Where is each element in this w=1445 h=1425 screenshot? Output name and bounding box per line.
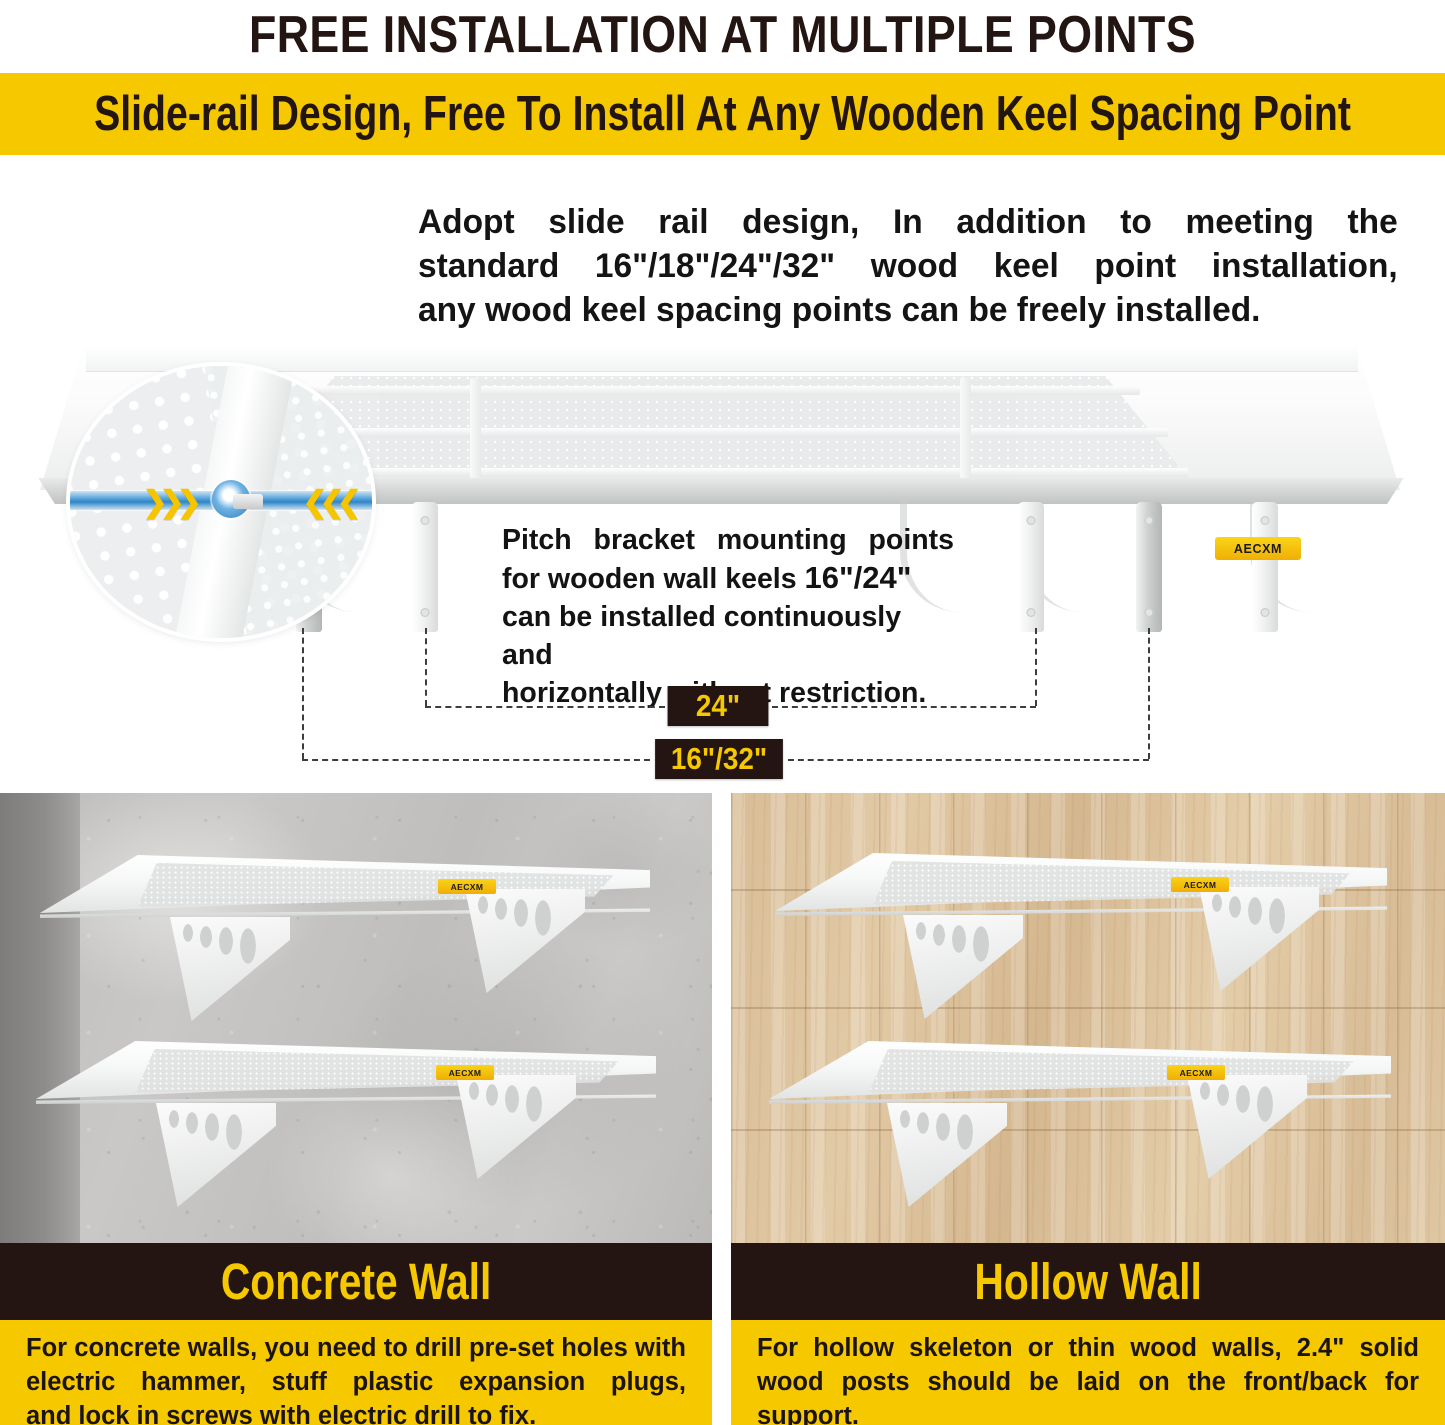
wood-plank-seam-2	[731, 1007, 1445, 1009]
mounting-bracket-6	[1252, 502, 1278, 632]
concrete-shelf-lower: AECXM	[36, 1041, 656, 1191]
dimension-label-16-32in: 16"/32"	[655, 739, 783, 779]
brand-badge-shelf-upper: AECXM	[438, 879, 496, 894]
deck-divider-left	[470, 378, 481, 478]
dim-inner-leader-right	[1035, 628, 1037, 706]
brand-badge-shelf-lower: AECXM	[436, 1065, 494, 1080]
caption-title-text: Concrete Wall	[221, 1252, 492, 1311]
caption-paragraph: For hollow skeleton or thin wood walls, …	[757, 1331, 1419, 1425]
caption-last-line: and lock in screws with electric drill t…	[26, 1402, 536, 1425]
photo-concrete-wall: AECXM AECXM	[0, 793, 712, 1243]
caption-title-hollow: Hollow Wall	[731, 1243, 1445, 1320]
caption-body-concrete: For concrete walls, you need to drill pr…	[0, 1320, 712, 1425]
deck-divider-right	[960, 378, 971, 478]
slide-rail-detail-magnifier: ❯❯❯ ❮❮❮	[70, 366, 372, 638]
brand-badge-shelf-upper: AECXM	[1171, 877, 1229, 892]
pitch-line-2: for wooden wall keels 16"/24"	[502, 559, 954, 598]
pitch-bracket-note: Pitch bracket mounting points for wooden…	[502, 521, 954, 712]
bracket-cutouts	[456, 1075, 576, 1179]
shelf-bracket-right	[465, 889, 585, 993]
page-title: FREE INSTALLATION AT MULTIPLE POINTS	[101, 0, 1344, 72]
dim-inner-line-left	[425, 706, 665, 708]
header-banner-text: Slide-rail Design, Free To Install At An…	[145, 73, 1301, 155]
caption-title-concrete: Concrete Wall	[0, 1243, 712, 1320]
dimension-label-24in: 24"	[668, 686, 769, 726]
infographic-page: FREE INSTALLATION AT MULTIPLE POINTS Sli…	[0, 0, 1445, 1425]
hollow-shelf-lower: AECXM	[769, 1041, 1391, 1191]
caption-title-text: Hollow Wall	[974, 1252, 1201, 1311]
bracket-cutouts	[1199, 887, 1319, 991]
concrete-shelf-upper: AECXM	[40, 855, 650, 1005]
pitch-line-3: can be installed continuously and	[502, 598, 954, 674]
dim-outer-leader-left	[302, 628, 304, 759]
slide-right-arrow-icon: ❯❯❯	[142, 488, 193, 518]
pitch-line-1: Pitch bracket mounting points	[502, 521, 954, 559]
detail-bolt	[233, 494, 263, 509]
dim-outer-line-right	[788, 759, 1149, 761]
pitch-keel-sizes: 16"/24"	[805, 560, 912, 595]
bracket-cutouts	[465, 889, 585, 993]
mounting-bracket-3	[412, 502, 438, 632]
shelf-bracket-right	[1199, 887, 1319, 991]
panel-concrete-wall: AECXM AECXM Concrete Wall For concrete w…	[0, 793, 712, 1425]
pitch-line-2-text: for wooden wall keels	[502, 563, 805, 595]
caption-justified-text: For hollow skeleton or thin wood walls, …	[757, 1331, 1419, 1399]
caption-body-hollow: For hollow skeleton or thin wood walls, …	[731, 1320, 1445, 1425]
panel-hollow-wall: AECXM AECXM Hollow Wall For hollow skele…	[731, 793, 1445, 1425]
deck-rail-mid	[272, 428, 1168, 437]
mounting-bracket-5	[1136, 502, 1162, 632]
shelf-bracket-right	[1187, 1075, 1307, 1179]
dim-outer-line-left	[302, 759, 650, 761]
photo-hollow-wall: AECXM AECXM	[731, 793, 1445, 1243]
brand-badge-shelf-lower: AECXM	[1167, 1065, 1225, 1080]
mounting-bracket-4	[1018, 502, 1044, 632]
dim-inner-leader-left	[425, 628, 427, 706]
dim-inner-line-right	[772, 706, 1036, 708]
caption-paragraph: For concrete walls, you need to drill pr…	[26, 1331, 686, 1425]
shelf-bracket-right	[456, 1075, 576, 1179]
bracket-cutouts	[1187, 1075, 1307, 1179]
deck-rail-top	[300, 386, 1140, 395]
slide-left-arrow-icon: ❮❮❮	[302, 488, 353, 518]
caption-justified-text: For concrete walls, you need to drill pr…	[26, 1331, 686, 1399]
deck-rail-bottom	[252, 468, 1188, 477]
hollow-shelf-upper: AECXM	[775, 853, 1387, 1003]
caption-last-line: support.	[757, 1402, 859, 1425]
dim-outer-leader-right	[1148, 628, 1150, 759]
brand-badge-hero: AECXM	[1215, 537, 1301, 560]
